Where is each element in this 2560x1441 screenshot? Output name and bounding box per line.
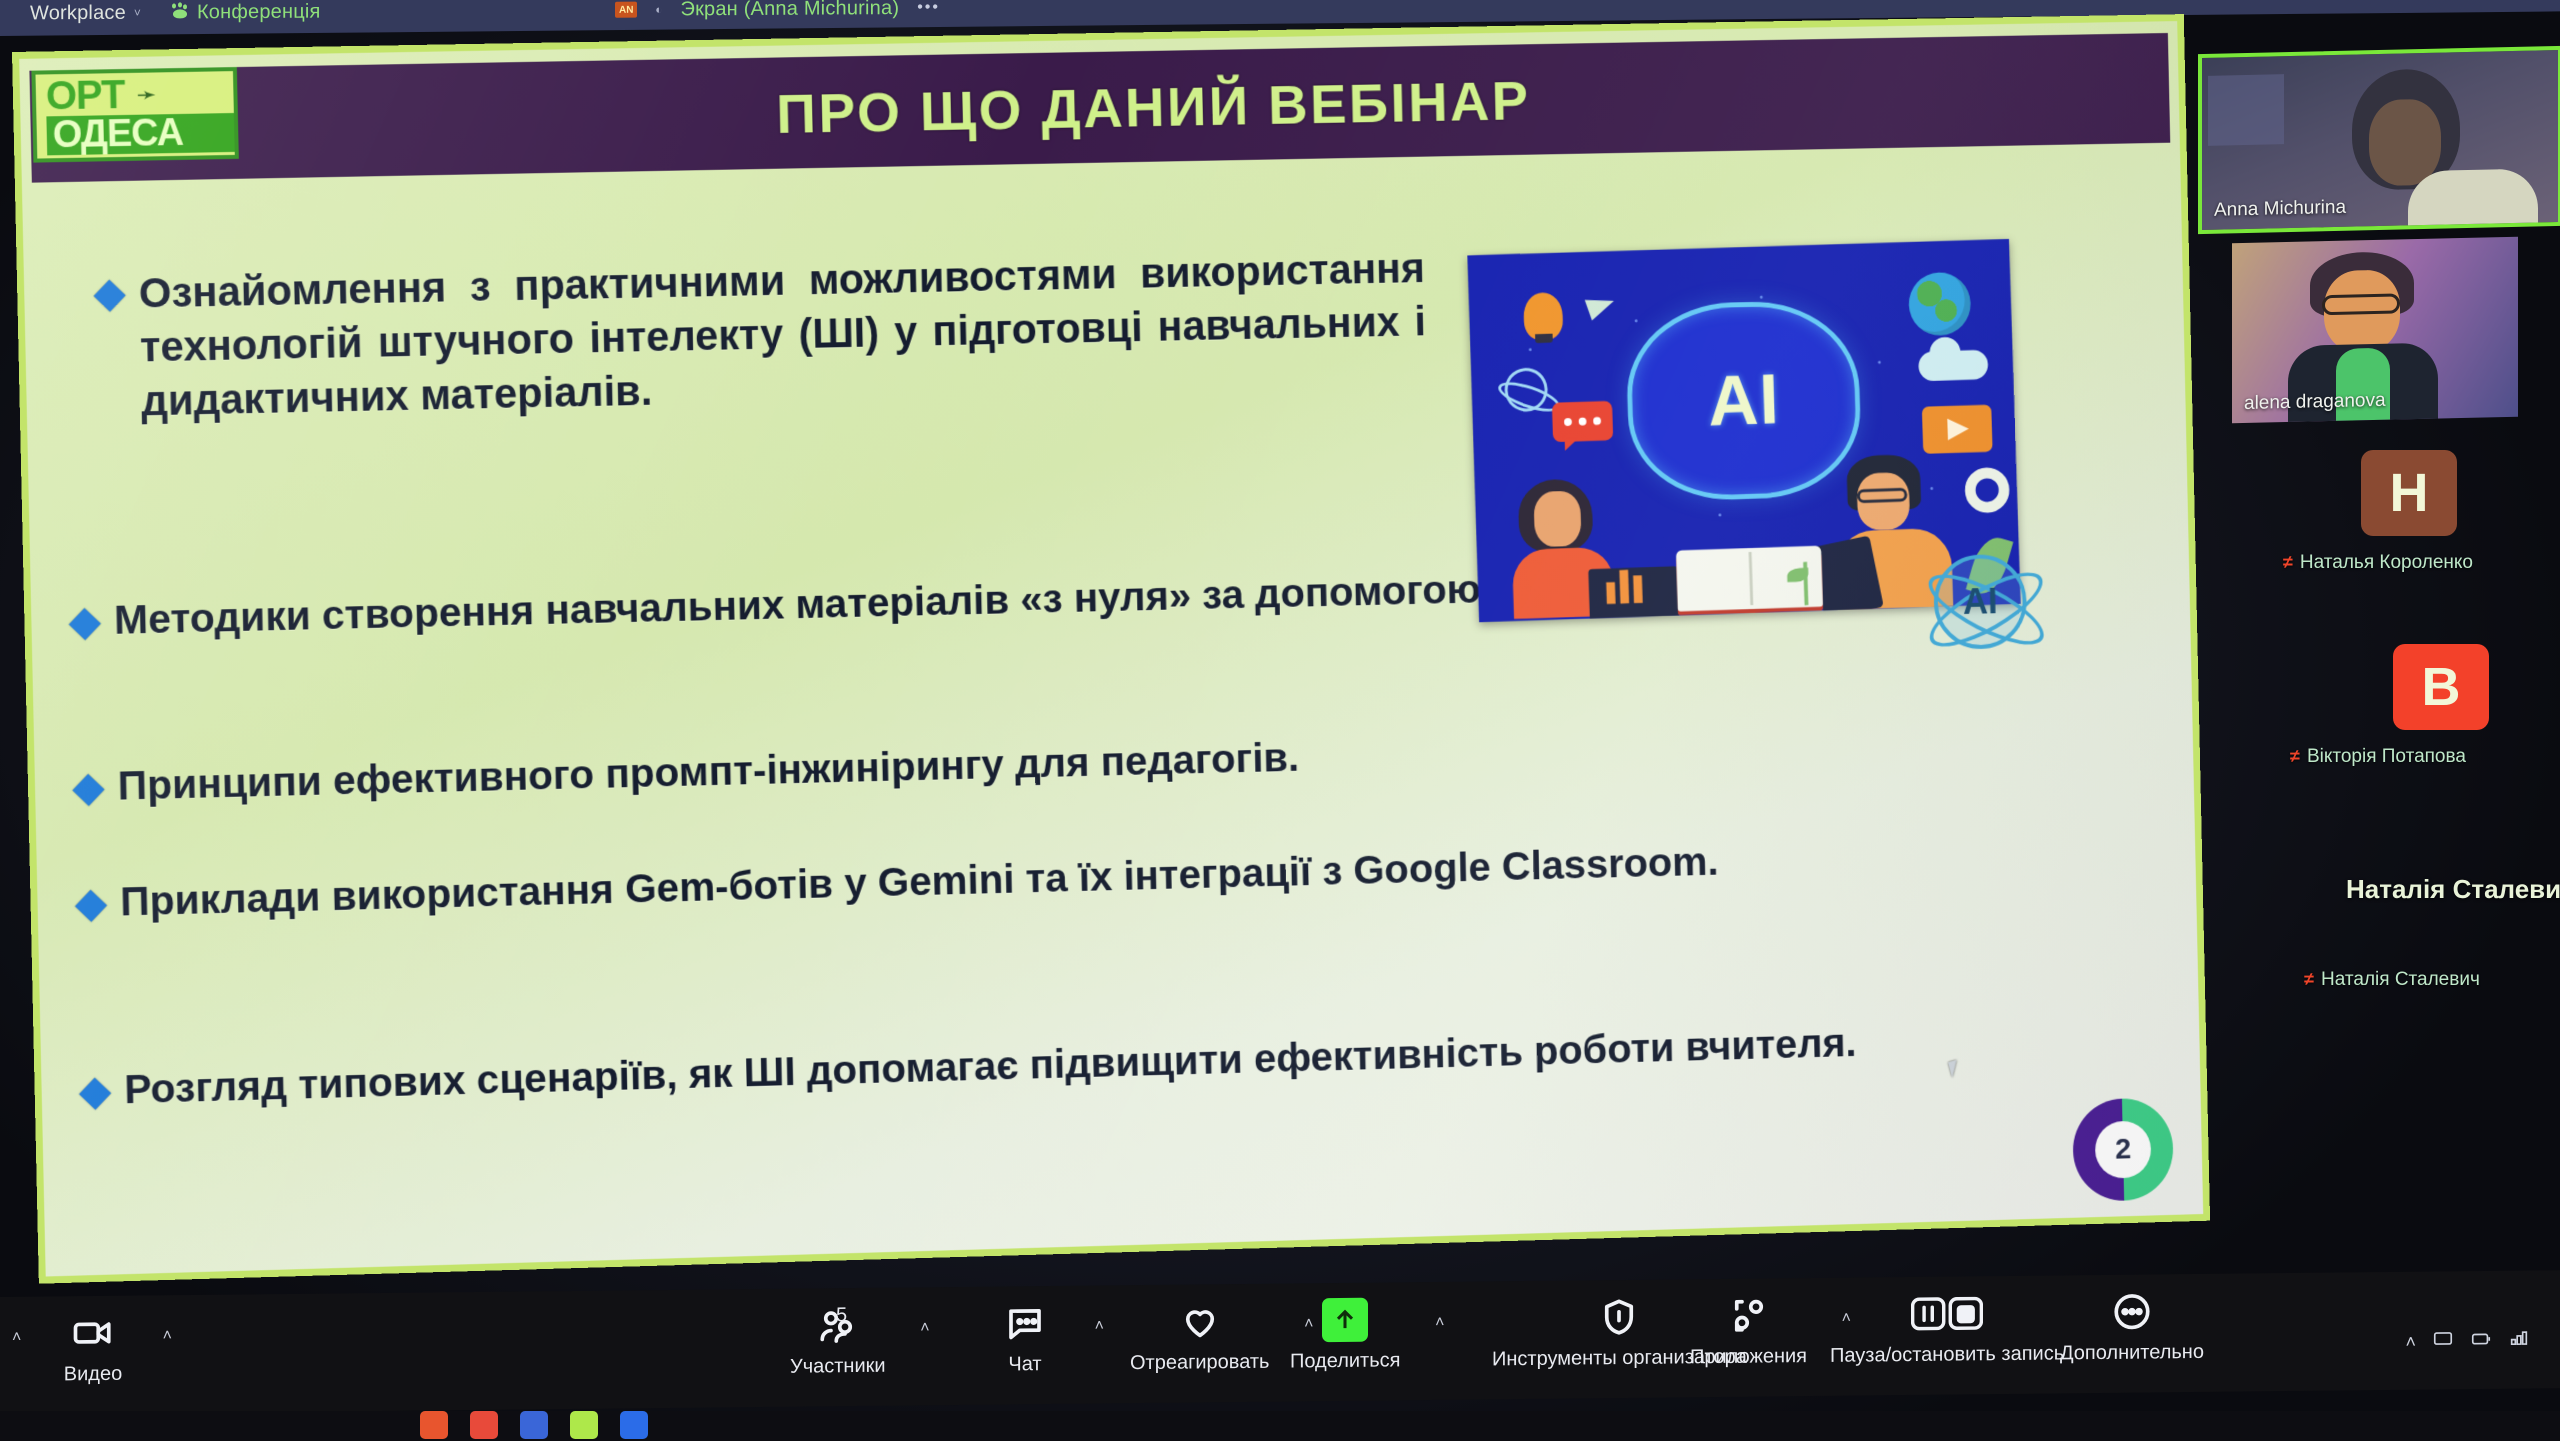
ai-label: AI [1707, 359, 1781, 442]
conference-label: Конференція [197, 0, 321, 24]
participant-name-label: alena draganova [2244, 390, 2386, 415]
screen-share-icon: ◐ [655, 2, 662, 16]
reactions-button[interactable]: ˄ Отреагировать [1130, 1298, 1269, 1375]
paper-plane-icon [1585, 291, 1618, 321]
video-button-label: Видео [64, 1363, 122, 1387]
participant-name-label: Anna Michurina [2214, 197, 2346, 222]
diamond-bullet-icon: ◆ [69, 601, 101, 642]
ai-atom-watermark: AI [1933, 554, 2028, 650]
taskbar-icon-5[interactable] [620, 1411, 648, 1439]
participant-name-label: Наталья Короленко [2300, 552, 2473, 573]
more-button[interactable]: Дополнительно [2060, 1288, 2204, 1366]
video-play-icon [1922, 405, 1993, 454]
list-item: ◆ Розгляд типових сценаріїв, як ШІ допом… [79, 1015, 1944, 1115]
battery-icon[interactable] [2470, 1328, 2492, 1355]
shared-screen-region: ПРО ЩО ДАНИЙ ВЕБІНАР ОРТ ➛ ОДЕСА ◆ Ознай… [12, 14, 2210, 1284]
apps-icon [1728, 1292, 1770, 1338]
bullet-text-2: Принципи ефективного промпт-інжинірингу … [117, 732, 1299, 810]
apps-button-label: Приложения [1690, 1345, 1807, 1369]
globe-icon [1908, 272, 1972, 337]
chevron-up-icon[interactable]: ˄ [1435, 1314, 1444, 1332]
page-title: ПРО ЩО ДАНИЙ ВЕБІНАР [30, 56, 2170, 159]
gear-icon [1964, 467, 2010, 514]
share-screen-button-label: Поделиться [1290, 1349, 1400, 1373]
apps-button[interactable]: ˄ Приложения [1690, 1292, 1807, 1369]
list-item: ◆ Ознайомлення з практичними можливостям… [94, 242, 1428, 429]
bullet-text-3: Приклади використання Gem-ботів у Gemini… [120, 836, 1719, 926]
app-name-item[interactable]: Workplace ˅ [30, 1, 141, 25]
diamond-bullet-icon: ◆ [94, 273, 126, 314]
mic-muted-icon: ≠ [2304, 969, 2314, 989]
lightbulb-icon [1523, 292, 1563, 340]
chevron-up-icon[interactable]: ˄ [12, 1329, 21, 1347]
ort-odesa-logo: ОРТ ➛ ОДЕСА [31, 67, 238, 163]
diamond-bullet-icon: ◆ [75, 883, 107, 924]
participants-count: 5 [836, 1304, 847, 1327]
avatar: Н [2361, 450, 2457, 536]
screenshot-root: Workplace ˅ Конференція AN ◐ Экран (Anna… [0, 0, 2560, 1441]
heart-icon [1179, 1298, 1221, 1344]
participant-name-row: ≠Наталія Сталевич [2224, 969, 2560, 991]
slide-title-bar: ПРО ЩО ДАНИЙ ВЕБІНАР [29, 33, 2170, 183]
participants-strip: Anna Michurina alena draganova Н ≠Наталь… [2196, 44, 2560, 1294]
pause-stop-record-icon [1911, 1290, 1983, 1337]
person-woman-illustration [1510, 473, 1639, 615]
taskbar-icon-2[interactable] [470, 1411, 498, 1439]
chevron-up-icon[interactable]: ˄ [2405, 1332, 2416, 1353]
bird-icon: ➛ [136, 83, 157, 107]
participant-name-row: ≠Вікторія Потапова [2196, 746, 2560, 768]
conference-tab[interactable]: Конференція [171, 0, 321, 24]
presentation-slide: ПРО ЩО ДАНИЙ ВЕБІНАР ОРТ ➛ ОДЕСА ◆ Ознай… [12, 14, 2210, 1284]
screen-share-label: Экран (Anna Michurina) [681, 0, 900, 21]
chat-bubble-icon [1552, 401, 1613, 442]
atom-icon [1499, 362, 1553, 417]
paw-icon [171, 3, 189, 21]
logo-text-ort: ОРТ [46, 76, 125, 117]
video-button[interactable]: ˄ ˄ Видео [58, 1310, 128, 1387]
bullet-text-4: Розгляд типових сценаріїв, як ШІ допомаг… [124, 1018, 1857, 1115]
app-name-label: Workplace [30, 1, 126, 25]
reactions-button-label: Отреагировать [1130, 1351, 1269, 1375]
taskbar-icon-3[interactable] [520, 1411, 548, 1439]
list-item: ◆ Принципи ефективного промпт-інжиніринг… [72, 716, 1976, 812]
more-options-icon[interactable]: ••• [917, 0, 940, 17]
diamond-bullet-icon: ◆ [73, 767, 105, 808]
network-icon[interactable] [2508, 1328, 2530, 1355]
participants-button[interactable]: 5 ˄ Участники [790, 1302, 886, 1379]
participant-name-label: Вікторія Потапова [2307, 746, 2466, 767]
participant-tile-nataliia-stalevych[interactable]: Наталія Сталевич ≠Наталія Сталевич [2196, 874, 2560, 991]
os-taskbar [0, 1411, 2560, 1441]
display-icon[interactable] [2432, 1328, 2454, 1355]
pause-stop-recording-button[interactable]: Пауза/остановить запись [1830, 1289, 2064, 1367]
logo-text-odesa: ОДЕСА [46, 113, 234, 155]
video-camera-icon [72, 1310, 114, 1356]
chat-button-label: Чат [1008, 1353, 1041, 1376]
ellipsis-icon [2111, 1288, 2153, 1334]
ai-watermark-label: AI [1962, 581, 1998, 623]
share-screen-icon [1322, 1297, 1368, 1343]
chat-bubble-icon [1004, 1300, 1046, 1346]
ai-illustration: AI [1467, 239, 2020, 622]
participant-tile-viktoria-potapova[interactable]: В ≠Вікторія Потапова [2196, 644, 2560, 768]
share-screen-button[interactable]: ˄ Поделиться [1290, 1296, 1400, 1373]
avatar: В [2393, 644, 2489, 730]
chevron-up-icon[interactable]: ˄ [163, 1327, 172, 1345]
slide-number-value: 2 [2095, 1120, 2152, 1178]
chevron-up-icon[interactable]: ˄ [1095, 1317, 1104, 1335]
sprout-icon [1792, 560, 1819, 606]
avatar-name-text: Наталія Сталевич [2346, 874, 2560, 905]
bullet-text-0: Ознайомлення з практичними можливостями … [138, 242, 1427, 428]
mic-muted-icon: ≠ [2290, 746, 2300, 766]
pause-stop-recording-label: Пауза/остановить запись [1830, 1342, 2064, 1367]
list-item: ◆ Приклади використання Gem-ботів у Gemi… [75, 828, 2027, 927]
participant-name-row: ≠Наталья Короленко [2196, 552, 2560, 574]
chat-button[interactable]: ˄ Чат [990, 1300, 1060, 1377]
participants-button-label: Участники [790, 1355, 886, 1379]
diamond-bullet-icon: ◆ [79, 1071, 111, 1112]
cloud-icon [1918, 350, 1988, 382]
taskbar-icon-4[interactable] [570, 1411, 598, 1439]
more-button-label: Дополнительно [2060, 1341, 2204, 1366]
recording-badge: AN [615, 2, 637, 18]
chevron-down-icon[interactable]: ˅ [134, 6, 141, 20]
shield-icon [1598, 1294, 1640, 1340]
video-tile-alena-draganova[interactable]: alena draganova [2232, 237, 2518, 423]
taskbar-icon-1[interactable] [420, 1411, 448, 1439]
video-tile-anna-michurina[interactable]: Anna Michurina [2198, 46, 2560, 234]
chevron-up-icon[interactable]: ˄ [920, 1319, 929, 1337]
mic-muted-icon: ≠ [2283, 552, 2293, 572]
participant-tile-natalya-korolenko[interactable]: Н ≠Наталья Короленко [2196, 450, 2560, 574]
system-tray: ˄ [2405, 1328, 2530, 1356]
participant-name-label: Наталія Сталевич [2321, 969, 2480, 990]
